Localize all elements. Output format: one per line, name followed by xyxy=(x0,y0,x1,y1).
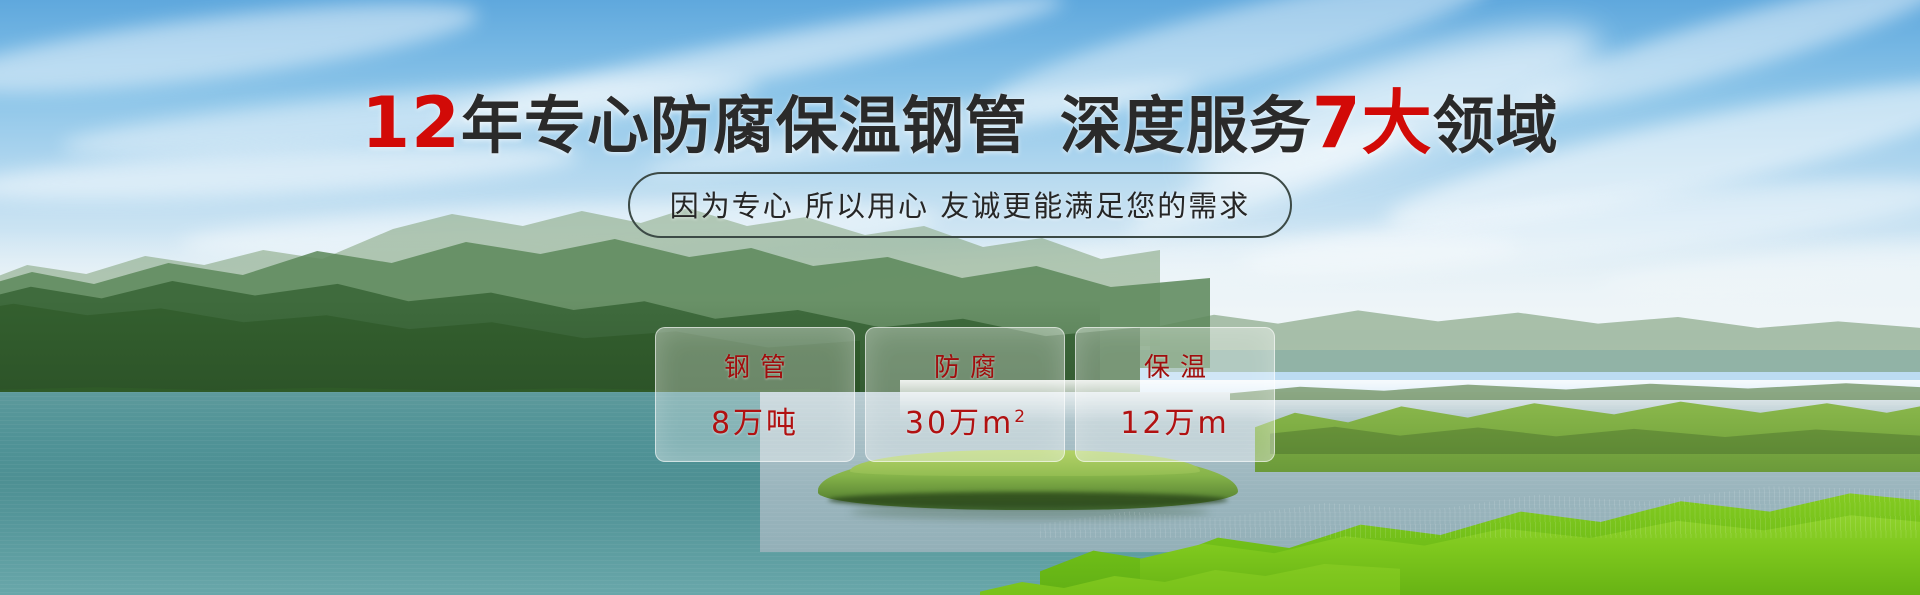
stat-card-insulation[interactable]: 保温 12万m xyxy=(1075,327,1275,462)
stat-card-anticorrosion[interactable]: 防腐 30万m2 xyxy=(865,327,1065,462)
stat-value-text: 8万吨 xyxy=(711,406,799,441)
subtitle-pill: 因为专心 所以用心 友诚更能满足您的需求 xyxy=(628,172,1292,238)
banner-headline: 12年专心防腐保温钢管深度服务7大领域 xyxy=(0,88,1920,158)
stat-value: 30万m2 xyxy=(905,398,1025,442)
headline-fields-count: 7大 xyxy=(1312,82,1433,164)
headline-text-fields: 领域 xyxy=(1433,89,1559,162)
headline-text-main: 年专心防腐保温钢管 xyxy=(461,89,1028,162)
stat-value-text: 12万m xyxy=(1120,406,1229,441)
stat-value: 12万m xyxy=(1120,398,1229,442)
stat-label: 钢管 xyxy=(714,347,796,384)
stat-label: 保温 xyxy=(1134,347,1216,384)
headline-years-number: 12 xyxy=(361,82,460,164)
promo-banner: 12年专心防腐保温钢管深度服务7大领域 因为专心 所以用心 友诚更能满足您的需求… xyxy=(0,0,1920,595)
stat-value-superscript: 2 xyxy=(1014,407,1025,427)
stat-cards: 钢管 8万吨 防腐 30万m2 保温 12万m xyxy=(655,327,1275,462)
stat-card-steel-pipe[interactable]: 钢管 8万吨 xyxy=(655,327,855,462)
stat-value: 8万吨 xyxy=(711,398,799,442)
subtitle-container: 因为专心 所以用心 友诚更能满足您的需求 xyxy=(0,172,1920,238)
stat-label: 防腐 xyxy=(924,347,1006,384)
stat-value-text: 30万m xyxy=(905,406,1014,441)
headline-text-service: 深度服务 xyxy=(1060,89,1312,162)
